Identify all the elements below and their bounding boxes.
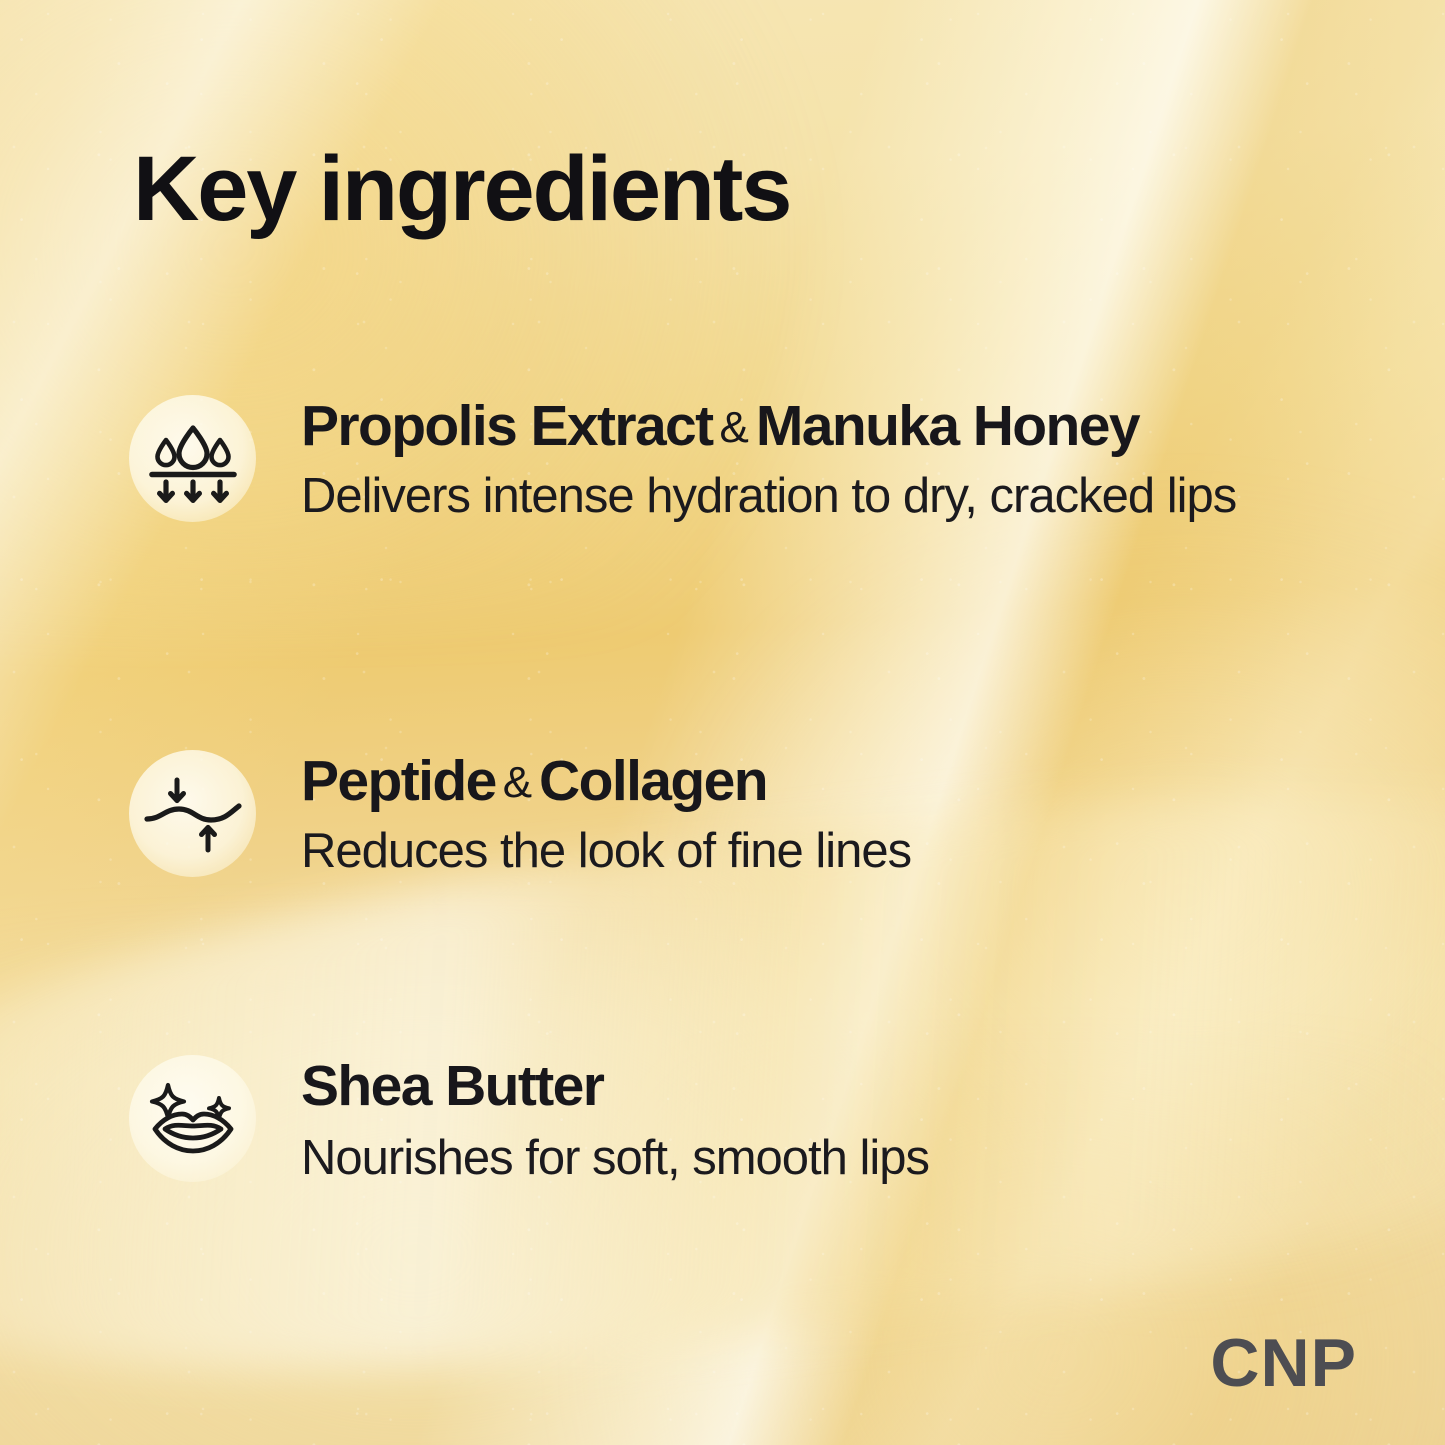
brand-logo: CNP — [1210, 1329, 1357, 1397]
ingredient-name-primary: Shea Butter — [301, 1054, 603, 1118]
product-infographic: Key ingredients — [0, 0, 1445, 1445]
ampersand: & — [713, 403, 756, 452]
ingredient-name-secondary: Manuka Honey — [756, 394, 1139, 458]
sparkling-lips-icon — [129, 1055, 256, 1182]
ampersand: & — [496, 758, 539, 807]
ingredient-description: Reduces the look of fine lines — [301, 823, 911, 881]
ampersand — [603, 1063, 617, 1112]
ingredient-name-primary: Propolis Extract — [301, 394, 713, 458]
ingredient-title: Shea Butter — [301, 1057, 929, 1116]
ingredient-item: Peptide&Collagen Reduces the look of fin… — [129, 750, 911, 881]
hydration-droplets-absorb-icon — [129, 395, 256, 522]
page-title: Key ingredients — [133, 143, 790, 235]
ingredient-title: Peptide&Collagen — [301, 752, 911, 811]
ingredient-item: Shea Butter Nourishes for soft, smooth l… — [129, 1055, 929, 1188]
ingredient-title: Propolis Extract&Manuka Honey — [301, 397, 1236, 456]
ingredient-description: Nourishes for soft, smooth lips — [301, 1130, 929, 1188]
ingredient-description: Delivers intense hydration to dry, crack… — [301, 468, 1236, 526]
ingredient-name-primary: Peptide — [301, 749, 496, 813]
ingredient-name-secondary: Collagen — [539, 749, 767, 813]
smoothing-wave-arrows-icon — [129, 750, 256, 877]
ingredient-item: Propolis Extract&Manuka Honey Delivers i… — [129, 395, 1236, 526]
